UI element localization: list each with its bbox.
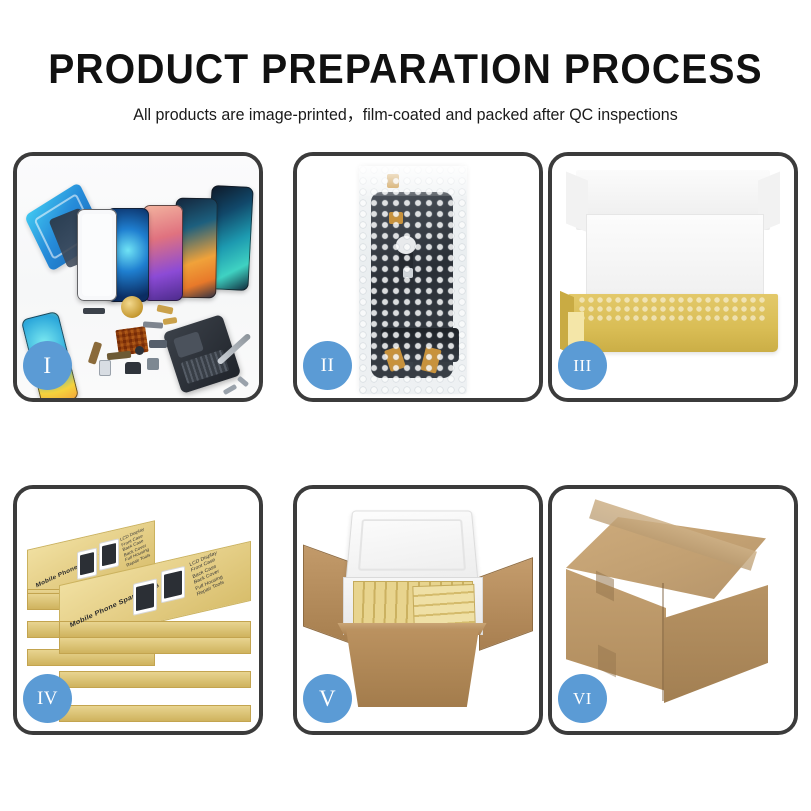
bubble-wrap-bag — [359, 166, 467, 394]
step-card-5[interactable]: V — [293, 485, 543, 735]
step-panel-frame: VI — [548, 485, 798, 735]
carton-right-face — [664, 585, 768, 703]
step-panel-frame: Mobile Phone Spare Parts LCD Display Fro… — [13, 485, 263, 735]
step-card-2[interactable]: II — [293, 152, 543, 402]
stacked-box — [59, 605, 249, 623]
carton-front-face — [337, 629, 488, 707]
phone-purple — [143, 205, 183, 301]
step-badge-1: I — [23, 341, 72, 390]
phone-white-glass — [77, 209, 117, 301]
step-badge-5: V — [303, 674, 352, 723]
box-checklist: LCD Display Front Case Back Case Back Co… — [189, 550, 225, 598]
small-part — [163, 317, 178, 325]
small-part — [143, 321, 163, 328]
small-part — [147, 358, 159, 370]
box-front-face — [59, 705, 251, 722]
box-product-image — [161, 566, 185, 604]
step-card-4[interactable]: Mobile Phone Spare Parts LCD Display Fro… — [13, 485, 263, 735]
step-card-3[interactable]: III — [548, 152, 798, 402]
step-panel-frame: V — [293, 485, 543, 735]
page-subtitle: All products are image-printed，film-coat… — [12, 90, 799, 126]
carton-corner-seam — [662, 583, 664, 701]
bubble-film-texture — [359, 166, 467, 394]
page-title: PRODUCT PREPARATION PROCESS — [28, 0, 782, 90]
product-preparation-infographic: PRODUCT PREPARATION PROCESS All products… — [0, 0, 811, 811]
step-badge-3: III — [558, 341, 607, 390]
small-part — [156, 304, 173, 314]
speaker-part — [121, 296, 143, 318]
stacked-box — [59, 673, 249, 691]
foam-pad — [586, 214, 764, 300]
small-part — [107, 351, 132, 360]
carton-left-face — [566, 569, 666, 691]
header: PRODUCT PREPARATION PROCESS All products… — [0, 0, 811, 126]
small-part — [149, 340, 167, 348]
bag-sheen — [359, 166, 467, 196]
step-panel-frame: I — [13, 152, 263, 402]
small-part — [223, 384, 238, 395]
small-part — [99, 360, 111, 376]
step-card-6[interactable]: VI — [548, 485, 798, 735]
small-part — [135, 346, 144, 355]
carton-flap-right — [479, 557, 533, 651]
step-panel-frame: II — [293, 152, 543, 402]
step-panel-frame: III — [548, 152, 798, 402]
step-badge-4: IV — [23, 674, 72, 723]
step-badge-2: II — [303, 341, 352, 390]
small-part — [237, 376, 249, 388]
step-card-1[interactable]: I — [13, 152, 263, 402]
step-badge-6: VI — [558, 674, 607, 723]
bubble-wrapped-contents — [578, 296, 768, 322]
small-part — [83, 308, 105, 314]
stacked-box — [59, 639, 249, 657]
yellow-mailer-tray — [568, 294, 778, 352]
small-part — [125, 362, 141, 374]
foam-lid — [346, 511, 479, 582]
yellow-boxes-row — [412, 584, 475, 626]
steps-grid: I — [13, 152, 798, 734]
